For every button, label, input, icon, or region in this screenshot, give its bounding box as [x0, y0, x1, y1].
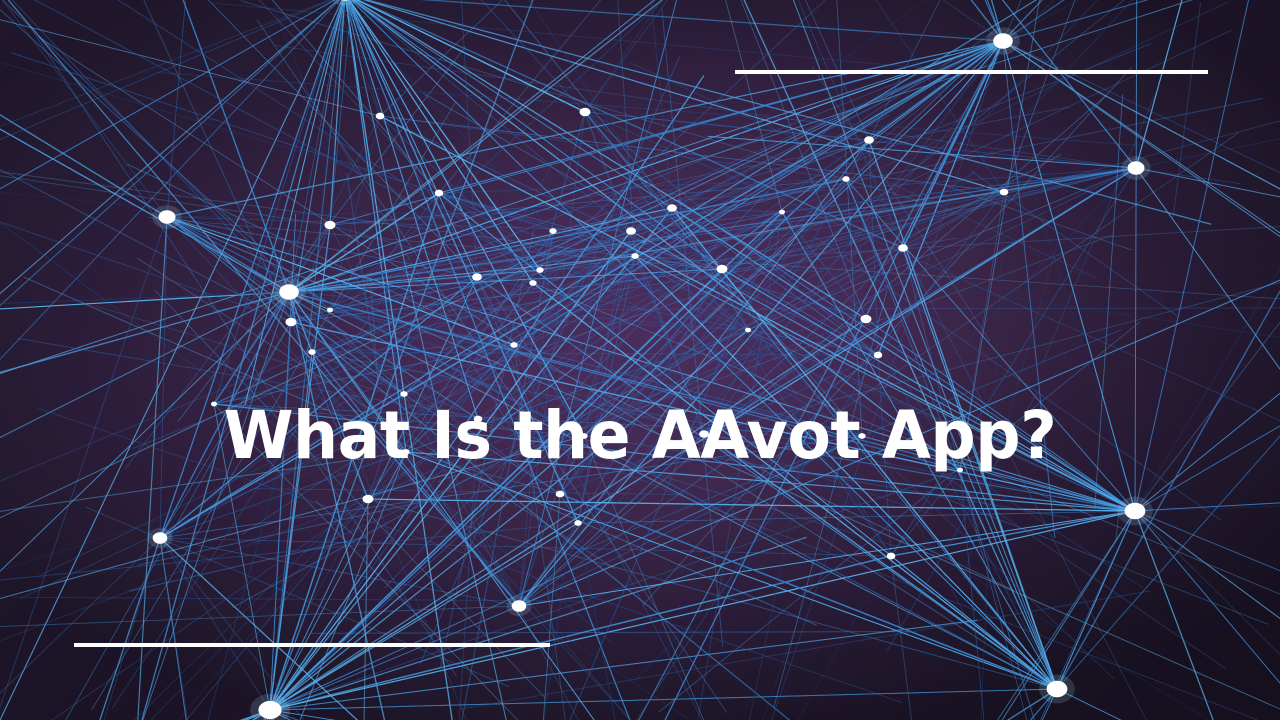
- top-divider-rule: [735, 70, 1208, 74]
- slide-title: What Is the AAvot App?: [26, 399, 1255, 473]
- network-constellation-graphic: [0, 0, 1280, 720]
- bottom-divider-rule: [74, 643, 550, 647]
- presentation-slide: What Is the AAvot App?: [0, 0, 1280, 720]
